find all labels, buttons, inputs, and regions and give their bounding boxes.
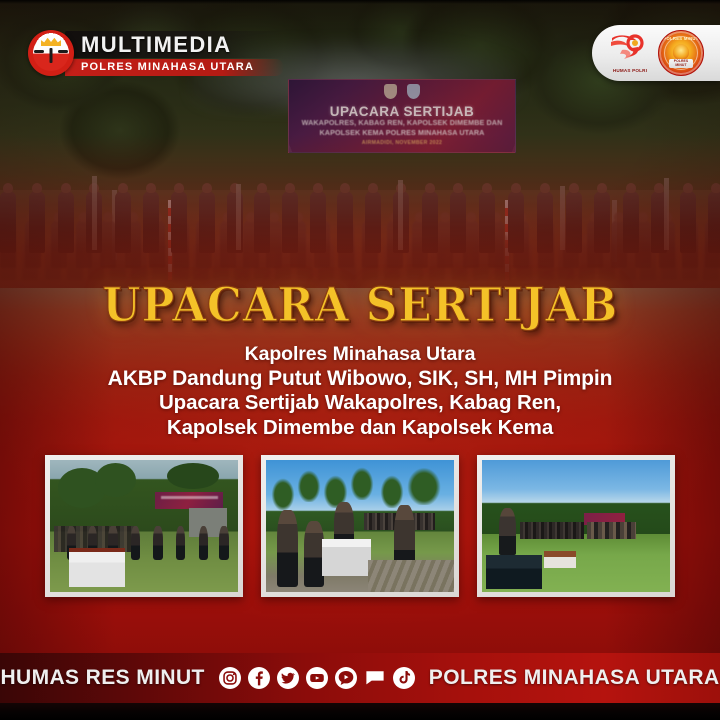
footer-right-text: POLRES MINAHASA UTARA: [429, 666, 720, 690]
photo-thumbnail-1: [50, 460, 238, 592]
multimedia-logo-lockup[interactable]: MULTIMEDIA POLRES MINAHASA UTARA: [28, 30, 284, 76]
twitter-icon[interactable]: [277, 667, 299, 689]
photo-frame-3[interactable]: [477, 455, 675, 597]
headline-wrap: UPACARA SERTIJAB: [0, 281, 720, 331]
photo-gallery: [45, 455, 675, 597]
polres-minut-emblem-icon: POLRES MINUT POLRES MINUT: [658, 30, 704, 76]
subtitle-line-1: Kapolres Minahasa Utara: [0, 342, 720, 367]
subtitle-line-3: Upacara Sertijab Wakapolres, Kabag Ren,: [0, 391, 720, 416]
brand-subtitle-band: POLRES MINAHASA UTARA: [65, 59, 284, 76]
polres-emblem-plate: POLRES MINUT: [669, 59, 693, 69]
humas-76-mark: [610, 34, 650, 61]
poster-canvas: UPACARA SERTIJAB WAKAPOLRES, KABAG REN, …: [0, 0, 720, 720]
footer-left-text: HUMAS RES MINUT: [0, 666, 204, 690]
subtitle-line-2: AKBP Dandung Putut Wibowo, SIK, SH, MH P…: [0, 367, 720, 392]
brand-title: MULTIMEDIA: [81, 34, 242, 56]
brand-subtitle: POLRES MINAHASA UTARA: [81, 61, 254, 73]
footer-bar: HUMAS RES MINUT POLRES MI: [0, 653, 720, 703]
message-flag-icon[interactable]: [364, 667, 386, 689]
headline-title: UPACARA SERTIJAB: [102, 281, 618, 331]
brand-title-band: MULTIMEDIA: [65, 31, 284, 58]
social-links: [219, 667, 415, 689]
instagram-icon[interactable]: [219, 667, 241, 689]
photo-frame-2[interactable]: [261, 455, 459, 597]
police-emblem-icon: [28, 30, 74, 76]
agency-badge-capsule[interactable]: HUMAS POLRI POLRES MINUT POLRES MINUT: [592, 25, 720, 81]
top-black-edge: [0, 0, 720, 4]
photo-thumbnail-3: [482, 460, 670, 592]
subtitle-line-4: Kapolsek Dimembe dan Kapolsek Kema: [0, 416, 720, 441]
humas-polri-76-icon: HUMAS POLRI: [608, 31, 652, 75]
photo-thumbnail-2: [266, 460, 454, 592]
bottom-black-strip: [0, 703, 720, 720]
humas-polri-label: HUMAS POLRI: [608, 68, 652, 73]
photo-frame-1[interactable]: [45, 455, 243, 597]
polres-emblem-top-text: POLRES MINUT: [659, 36, 703, 41]
subtitle-block: Kapolres Minahasa Utara AKBP Dandung Put…: [0, 342, 720, 440]
facebook-icon[interactable]: [248, 667, 270, 689]
tiktok-icon[interactable]: [393, 667, 415, 689]
youtube-icon[interactable]: [306, 667, 328, 689]
speech-bubble-play-icon[interactable]: [335, 667, 357, 689]
